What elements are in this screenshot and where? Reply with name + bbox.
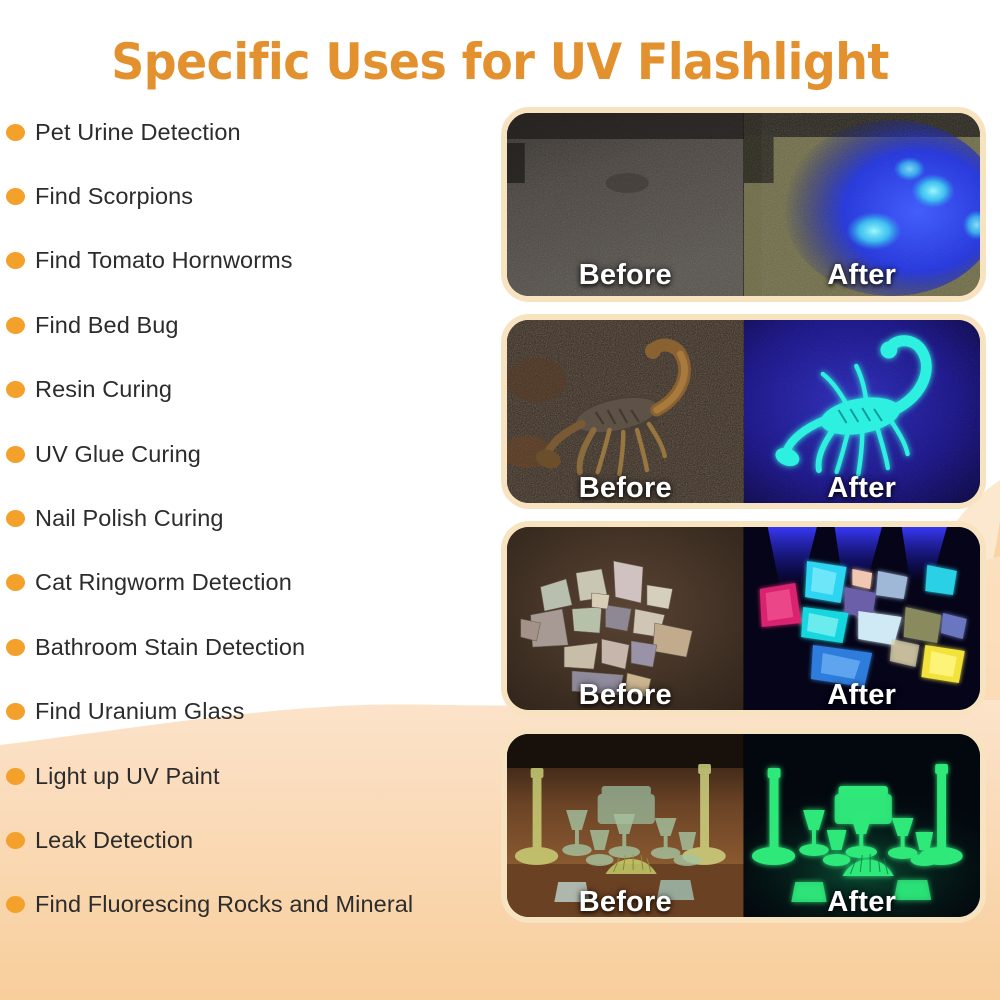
comparison-card-uranium-glass: Before After	[507, 734, 980, 917]
list-item-label: Find Fluorescing Rocks and Mineral	[35, 891, 413, 918]
after-half	[744, 527, 981, 710]
comparison-card-fluorescing-rocks: Before After	[507, 527, 980, 710]
before-half	[507, 734, 744, 917]
list-item-label: Pet Urine Detection	[35, 119, 241, 146]
list-item: Cat Ringworm Detection	[0, 551, 500, 615]
list-item: UV Glue Curing	[0, 422, 500, 486]
bullet-dot-icon	[6, 574, 25, 591]
list-item: Resin Curing	[0, 358, 500, 422]
bullet-dot-icon	[6, 317, 25, 334]
uranium-glass-uv-light-image	[744, 734, 981, 917]
list-item: Find Fluorescing Rocks and Mineral	[0, 873, 500, 937]
bullet-dot-icon	[6, 510, 25, 527]
list-item: Find Scorpions	[0, 164, 500, 228]
list-item-label: Cat Ringworm Detection	[35, 569, 292, 596]
list-item: Leak Detection	[0, 808, 500, 872]
bullet-dot-icon	[6, 381, 25, 398]
before-half	[507, 527, 744, 710]
before-half	[507, 320, 744, 503]
bullet-dot-icon	[6, 896, 25, 913]
list-item-label: Find Tomato Hornworms	[35, 247, 293, 274]
list-item-label: Resin Curing	[35, 376, 172, 403]
carpet-uv-light-image	[744, 113, 981, 296]
after-half	[744, 734, 981, 917]
bullet-dot-icon	[6, 703, 25, 720]
scorpion-normal-light-image	[507, 320, 744, 503]
list-item-label: Nail Polish Curing	[35, 505, 224, 532]
list-item-label: Find Scorpions	[35, 183, 193, 210]
carpet-normal-light-image	[507, 113, 744, 296]
uranium-glass-normal-light-image	[507, 734, 744, 917]
uses-list: Pet Urine Detection Find Scorpions Find …	[0, 100, 500, 937]
list-item: Bathroom Stain Detection	[0, 615, 500, 679]
comparison-card-pet-urine: Before After	[507, 113, 980, 296]
list-item-label: Leak Detection	[35, 827, 193, 854]
list-item-label: UV Glue Curing	[35, 441, 201, 468]
list-item-label: Find Bed Bug	[35, 312, 179, 339]
bullet-dot-icon	[6, 252, 25, 269]
bullet-dot-icon	[6, 832, 25, 849]
after-half	[744, 320, 981, 503]
list-item: Find Bed Bug	[0, 293, 500, 357]
bullet-dot-icon	[6, 124, 25, 141]
list-item-label: Find Uranium Glass	[35, 698, 244, 725]
before-half	[507, 113, 744, 296]
rocks-normal-light-image	[507, 527, 744, 710]
page-title: Specific Uses for UV Flashlight	[0, 32, 1000, 92]
bullet-dot-icon	[6, 188, 25, 205]
rocks-uv-light-image	[744, 527, 981, 710]
bullet-dot-icon	[6, 446, 25, 463]
list-item-label: Bathroom Stain Detection	[35, 634, 305, 661]
list-item: Find Uranium Glass	[0, 680, 500, 744]
list-item-label: Light up UV Paint	[35, 763, 220, 790]
list-item: Pet Urine Detection	[0, 100, 500, 164]
after-half	[744, 113, 981, 296]
bullet-dot-icon	[6, 639, 25, 656]
list-item: Nail Polish Curing	[0, 486, 500, 550]
bullet-dot-icon	[6, 768, 25, 785]
list-item: Light up UV Paint	[0, 744, 500, 808]
list-item: Find Tomato Hornworms	[0, 229, 500, 293]
scorpion-uv-light-image	[744, 320, 981, 503]
comparison-card-scorpion: Before After	[507, 320, 980, 503]
